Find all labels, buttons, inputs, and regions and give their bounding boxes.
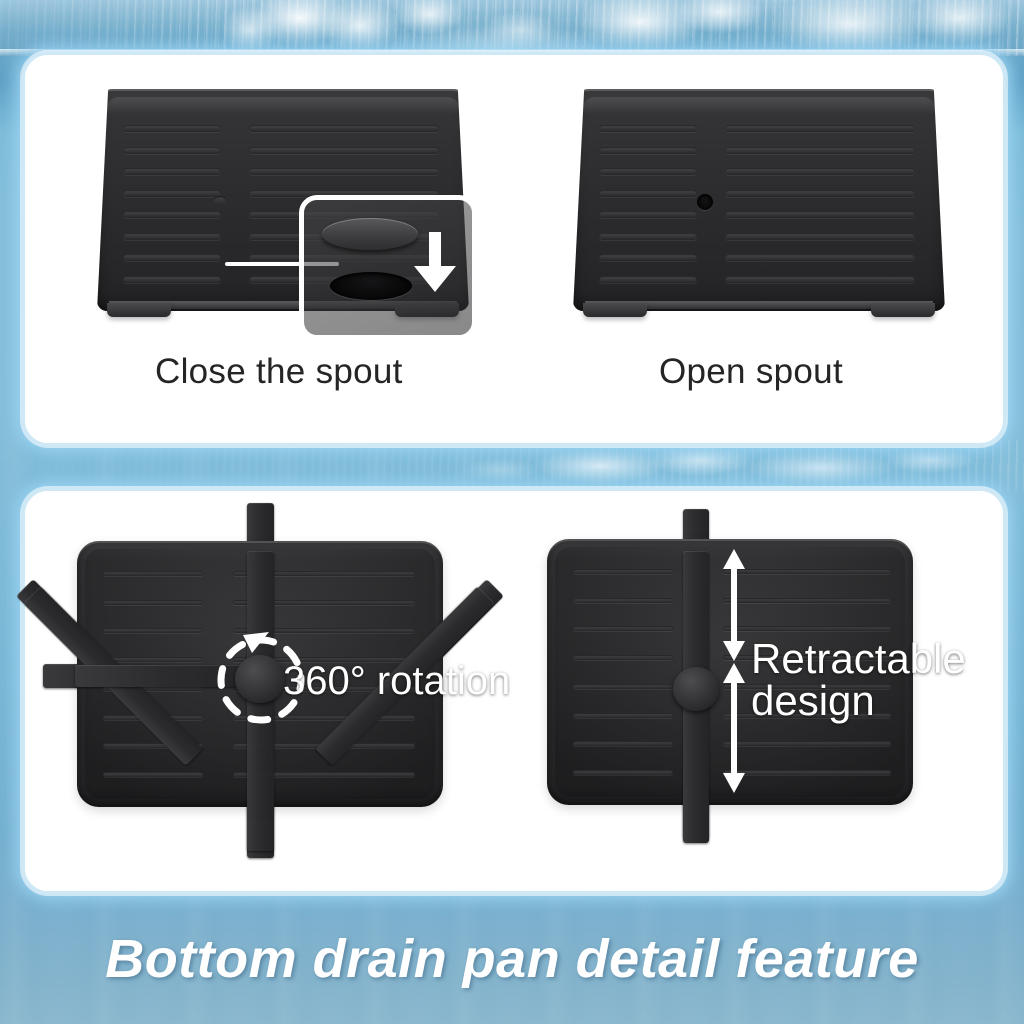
- tray-rib: [723, 569, 891, 574]
- tray-foot-right: [871, 303, 935, 317]
- tray-rib: [599, 190, 697, 197]
- tray-rib: [103, 657, 203, 662]
- tray-rib: [103, 628, 203, 633]
- tray-rib: [123, 276, 221, 283]
- panel-rotation: 360° rotation: [35, 491, 505, 891]
- tray-rib: [725, 147, 915, 154]
- splash-streaks: [0, 0, 1024, 56]
- water-splash-banner-top: [0, 0, 1024, 56]
- infographic-canvas: Close the spout: [0, 0, 1024, 1024]
- tray-rib: [725, 190, 915, 197]
- overlay-label-retractable-line1: Retractable: [751, 637, 1021, 681]
- tray-rib: [599, 168, 697, 175]
- tray-rib: [725, 276, 915, 283]
- panel-close-spout: Close the spout: [59, 55, 505, 443]
- tray-rib: [599, 276, 697, 283]
- tray-rib: [103, 772, 203, 777]
- tray-rib: [573, 655, 673, 660]
- tray-foot-left: [107, 303, 171, 317]
- tray-rib: [599, 254, 697, 261]
- tray-rib: [249, 125, 439, 132]
- tray-rib: [725, 254, 915, 261]
- tray-ribs-left: [573, 569, 673, 775]
- tray-rib: [249, 147, 439, 154]
- open-spout-drain-hole: [697, 194, 713, 210]
- tray-rib: [725, 211, 915, 218]
- tray-rib: [725, 168, 915, 175]
- tray-rib: [573, 684, 673, 689]
- tray-rib: [103, 571, 203, 576]
- tray-rib: [599, 211, 697, 218]
- water-splash-banner-middle: [0, 440, 1024, 492]
- double-arrow-vertical-icon-lower: [721, 663, 747, 793]
- tray-ribs-right: [725, 125, 915, 283]
- tray-ribs-left: [599, 125, 697, 283]
- tray-rib: [599, 147, 697, 154]
- zoom-callout-close-spout: [299, 195, 477, 340]
- panel-caption-close-spout: Close the spout: [155, 352, 403, 392]
- tray-rib: [123, 168, 221, 175]
- page-title: Bottom drain pan detail feature: [0, 928, 1024, 990]
- card-bottom-row: 360° rotation: [22, 488, 1006, 894]
- tray-rib: [723, 770, 891, 775]
- overlay-label-retractable-line2: design: [751, 679, 1021, 723]
- tray-foot-left: [583, 303, 647, 317]
- tray-ribs-left: [123, 125, 221, 283]
- tray-rib: [723, 741, 891, 746]
- tray-rib: [573, 626, 673, 631]
- tray-rim-highlight: [107, 97, 459, 115]
- tray-rib: [725, 125, 915, 132]
- tray-rib: [573, 741, 673, 746]
- tray-rib: [123, 211, 221, 218]
- tray-rib: [249, 168, 439, 175]
- product-tray-open-spout: [573, 89, 945, 329]
- tray-feet: [579, 303, 939, 319]
- tray-rib: [599, 233, 697, 240]
- spout-plug-disc: [322, 218, 418, 250]
- card-top-row: Close the spout: [22, 52, 1006, 446]
- panel-retractable: Retractable design: [525, 491, 995, 891]
- tray-rib: [123, 125, 221, 132]
- tray-rib: [725, 233, 915, 240]
- closed-spout-nub: [213, 196, 227, 206]
- spout-slider-hub: [673, 667, 719, 711]
- tray-rib: [573, 569, 673, 574]
- overlay-label-rotation: 360° rotation: [283, 661, 510, 701]
- tray-rib: [123, 190, 221, 197]
- tray-rib: [573, 598, 673, 603]
- tray-rib: [573, 713, 673, 718]
- tray-rib: [599, 125, 697, 132]
- tray-rib: [573, 770, 673, 775]
- down-arrow-icon: [412, 232, 458, 294]
- double-arrow-vertical-icon: [721, 549, 747, 661]
- tray-rib: [103, 600, 203, 605]
- panel-open-spout: Open spout: [535, 55, 981, 443]
- splash-streaks-middle: [0, 440, 1024, 492]
- tray-rib: [123, 147, 221, 154]
- tray-rim-highlight: [583, 97, 935, 115]
- panel-caption-open-spout: Open spout: [659, 352, 843, 392]
- tray-rib: [123, 233, 221, 240]
- spout-hole: [330, 272, 412, 300]
- tray-rib: [123, 254, 221, 261]
- tray-rib: [723, 598, 891, 603]
- tray-rib: [723, 626, 891, 631]
